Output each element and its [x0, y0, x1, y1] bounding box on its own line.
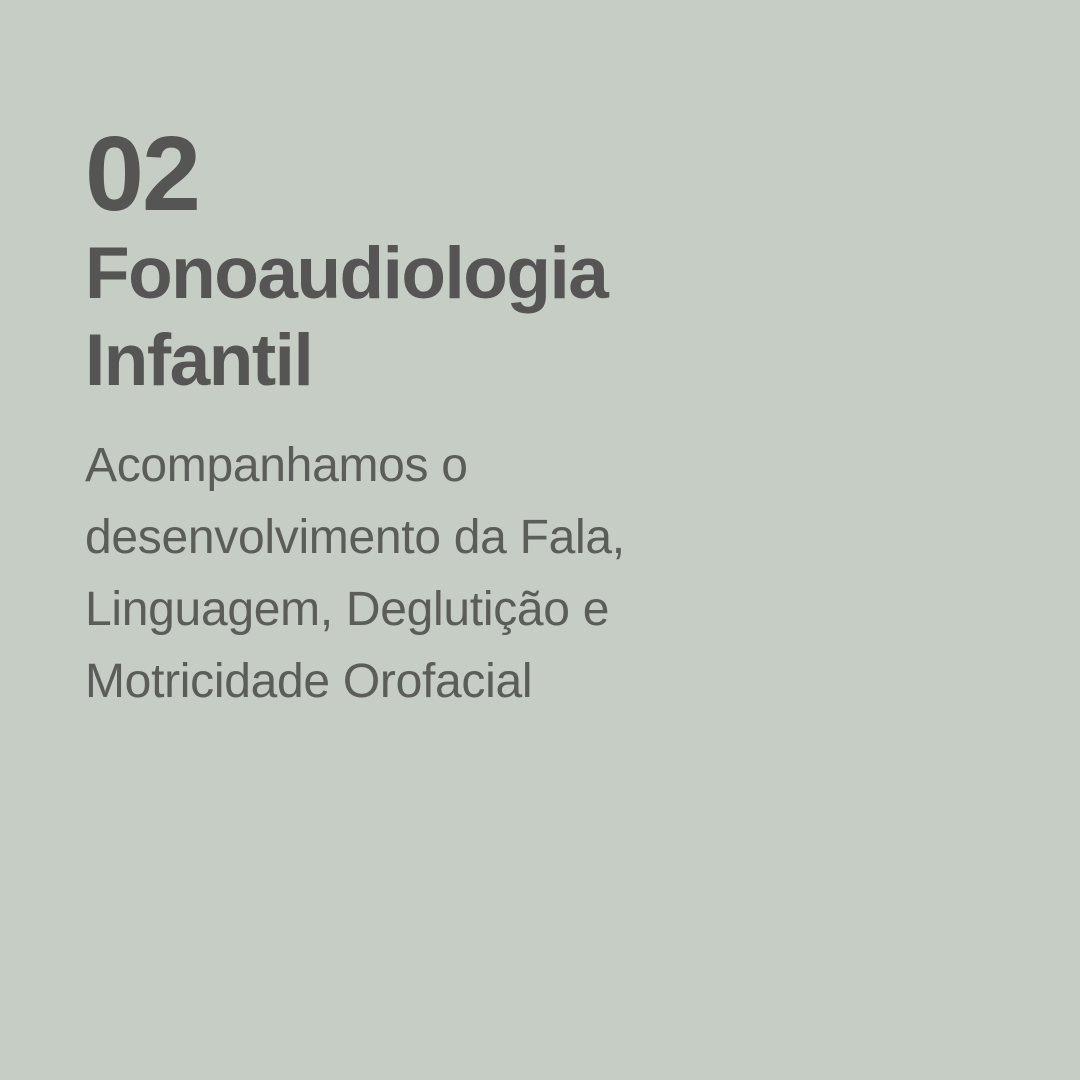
page-title: Fonoaudiologia Infantil	[85, 230, 785, 404]
service-card-slide: 02 Fonoaudiologia Infantil Acompanhamos …	[0, 0, 1080, 1080]
content-block: 02 Fonoaudiologia Infantil Acompanhamos …	[85, 118, 845, 718]
step-number: 02	[85, 118, 845, 230]
service-description: Acompanhamos o desenvolvimento da Fala, …	[85, 430, 785, 718]
